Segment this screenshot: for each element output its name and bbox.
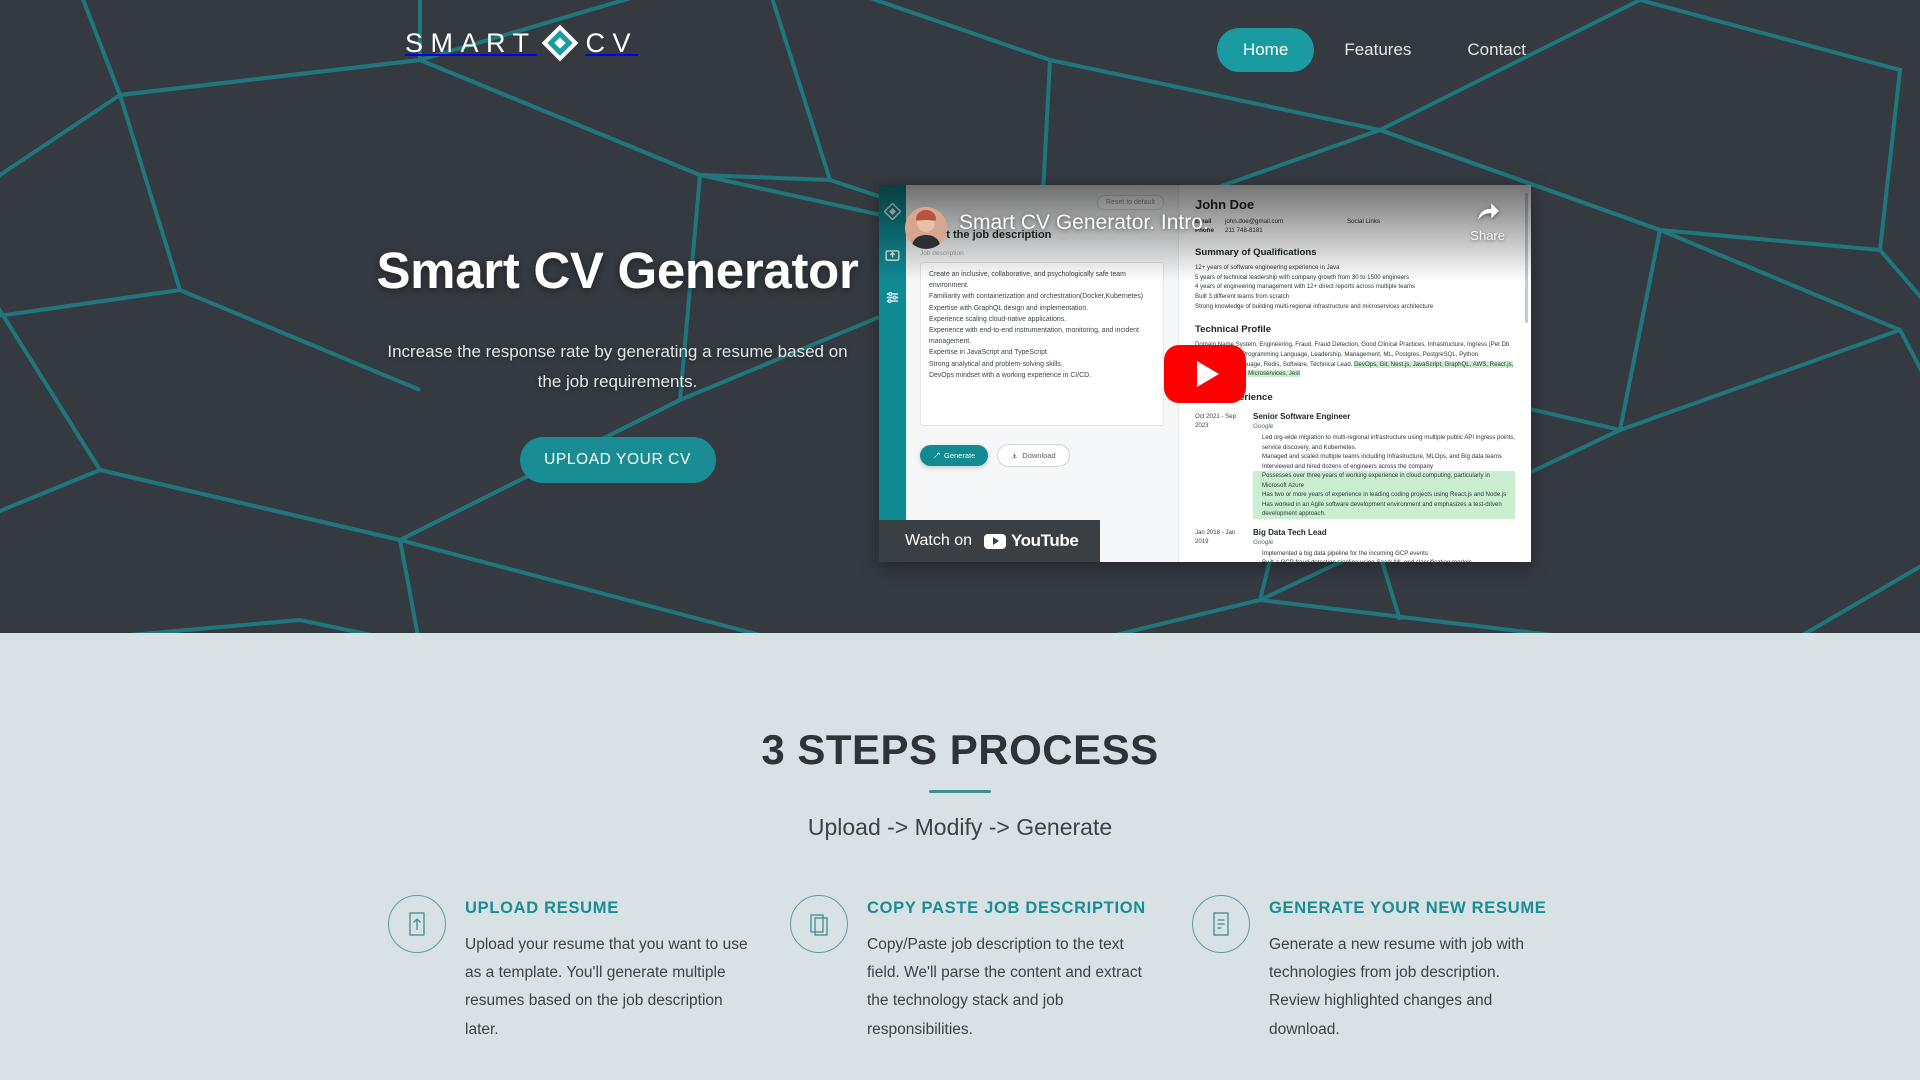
resume-job-bullet: Interviewed and hired dozens of engineer… [1253, 462, 1515, 472]
resume-summary-item: Strong knowledge of building multi-regio… [1195, 302, 1515, 312]
generate-resume-icon [1192, 895, 1250, 953]
channel-avatar[interactable] [905, 207, 947, 249]
jd-line: Expertise with GraphQL design and implem… [929, 303, 1155, 314]
upload-cv-button[interactable]: UPLOAD YOUR CV [520, 437, 716, 483]
generate-button[interactable]: Generate [920, 445, 988, 466]
steps-subheading: Upload -> Modify -> Generate [0, 814, 1920, 841]
settings-sliders-icon[interactable] [884, 289, 901, 306]
jd-line: Expertise in JavaScript and TypeScript. [929, 347, 1155, 358]
diamond-logo-icon [543, 26, 577, 60]
nav-item-features[interactable]: Features [1318, 28, 1437, 72]
upload-resume-icon [388, 895, 446, 953]
nav-item-home[interactable]: Home [1217, 28, 1314, 72]
resume-job-entry: Oct 2021 - Sep 2023 Senior Software Engi… [1195, 412, 1515, 519]
step-card-generate-resume: GENERATE YOUR NEW RESUME Generate a new … [1192, 895, 1552, 1044]
jd-line: Strong analytical and problem-solving sk… [929, 359, 1155, 370]
resume-job-entry: Jan 2018 - Jan 2019 Big Data Tech Lead G… [1195, 528, 1515, 562]
resume-job-bullet: Built a GCP fraud detection pipeline usi… [1253, 558, 1472, 562]
jd-line: Familiarity with containerization and or… [929, 291, 1155, 302]
resume-job-bullet: Implemented a big data pipeline for the … [1253, 549, 1472, 559]
resume-job-bullet: Has two or more years of experience in l… [1253, 490, 1515, 500]
step-card-text: Upload your resume that you want to use … [465, 931, 748, 1044]
download-button-label: Download [1022, 451, 1055, 460]
nav-item-contact[interactable]: Contact [1441, 28, 1552, 72]
resume-job-company: Google [1253, 423, 1515, 430]
resume-job-bullet: Has worked in an Agile software developm… [1253, 500, 1515, 519]
steps-heading: 3 STEPS PROCESS [0, 633, 1920, 774]
brand-logo[interactable]: SMART CV [405, 26, 638, 60]
resume-job-company: Google [1253, 539, 1472, 546]
resume-technical-heading: Technical Profile [1195, 324, 1515, 335]
step-card-text: Copy/Paste job description to the text f… [867, 931, 1150, 1044]
share-button[interactable]: Share [1470, 199, 1505, 245]
step-card-text: Generate a new resume with job with tech… [1269, 931, 1552, 1044]
nav-links: Home Features Contact [1217, 28, 1552, 72]
top-navigation: SMART CV Home Features Contact [0, 0, 1920, 98]
step-card-upload-resume: UPLOAD RESUME Upload your resume that yo… [388, 895, 748, 1044]
hero-subtitle: Increase the response rate by generating… [383, 337, 853, 397]
resume-job-dates: Jan 2018 - Jan 2019 [1195, 528, 1243, 562]
share-label: Share [1470, 228, 1505, 243]
video-player[interactable]: Reset to default Insert the job descript… [879, 185, 1531, 562]
step-card-copy-paste: COPY PASTE JOB DESCRIPTION Copy/Paste jo… [790, 895, 1150, 1044]
brand-word-right: CV [586, 30, 639, 57]
resume-job-bullet: Managed and scaled multiple teams includ… [1253, 452, 1515, 462]
app-action-buttons: Generate Download [920, 444, 1164, 467]
watch-on-youtube-button[interactable]: Watch on YouTube [879, 520, 1100, 562]
resume-job-title: Senior Software Engineer [1253, 412, 1515, 421]
jd-line: DevOps mindset with a working experience… [929, 370, 1155, 381]
job-description-textarea[interactable]: Create an inclusive, collaborative, and … [920, 262, 1164, 426]
magic-wand-icon [933, 452, 940, 459]
resume-summary-item: 4 years of engineering management with 1… [1195, 282, 1515, 292]
download-button[interactable]: Download [997, 444, 1069, 467]
resume-job-bullet: Possesses over three years of working ex… [1253, 471, 1515, 490]
steps-divider [929, 790, 991, 793]
resume-job-bullet: Led org-wide migration to multi-regional… [1253, 433, 1515, 452]
jd-line: Experience scaling cloud-native applicat… [929, 314, 1155, 325]
download-icon [1011, 452, 1018, 459]
generate-button-label: Generate [944, 451, 975, 460]
copy-paste-icon [790, 895, 848, 953]
hero-section: SMART CV Home Features Contact Smart CV … [0, 0, 1920, 633]
watch-on-label: Watch on [905, 532, 972, 550]
resume-job-title: Big Data Tech Lead [1253, 528, 1472, 537]
brand-word-left: SMART [405, 30, 537, 57]
share-arrow-icon [1473, 199, 1503, 225]
video-title[interactable]: Smart CV Generator. Intro. [959, 211, 1209, 235]
steps-process-section: 3 STEPS PROCESS Upload -> Modify -> Gene… [0, 633, 1920, 1080]
youtube-play-icon[interactable] [1164, 345, 1246, 403]
step-card-title: UPLOAD RESUME [465, 899, 748, 918]
youtube-label: YouTube [1011, 531, 1078, 551]
resume-job-dates: Oct 2021 - Sep 2023 [1195, 412, 1243, 519]
step-card-title: GENERATE YOUR NEW RESUME [1269, 899, 1552, 918]
jd-line: Experience with end-to-end instrumentati… [929, 325, 1155, 347]
resume-summary-item: Built 3 different teams from scratch [1195, 292, 1515, 302]
step-card-title: COPY PASTE JOB DESCRIPTION [867, 899, 1150, 918]
youtube-logo-icon: YouTube [984, 531, 1078, 551]
steps-cards: UPLOAD RESUME Upload your resume that yo… [0, 895, 1920, 1044]
